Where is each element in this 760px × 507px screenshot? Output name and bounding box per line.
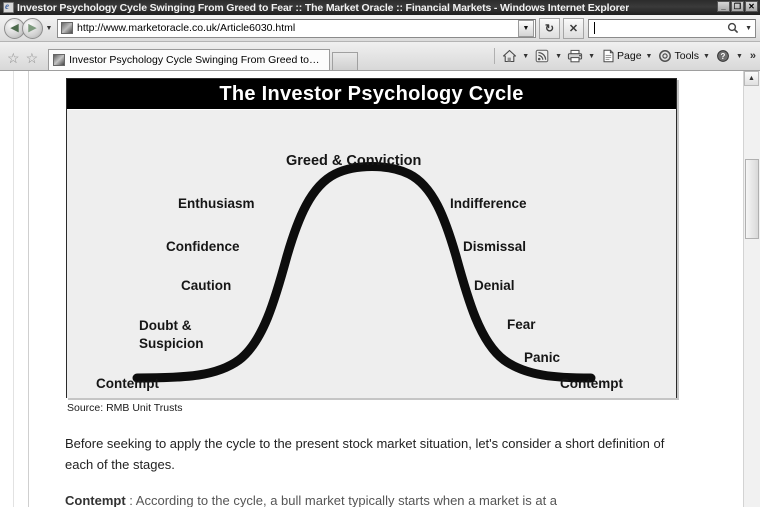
command-bar: ▼ ▼ (488, 45, 756, 70)
restore-button[interactable]: ❐ (731, 1, 744, 12)
tools-label: Tools (674, 50, 699, 62)
chart-label-suspicion: Suspicion (139, 336, 204, 352)
chart-label-panic: Panic (524, 350, 560, 366)
page-label: Page (617, 50, 642, 62)
feeds-caret-icon[interactable]: ▼ (555, 53, 562, 60)
help-question-icon: ? (715, 49, 731, 64)
chart-label-indifference: Indifference (450, 196, 527, 212)
feeds-button[interactable] (534, 49, 551, 64)
home-button[interactable] (501, 49, 518, 64)
history-dropdown-icon[interactable]: ▼ (43, 18, 55, 38)
vertical-scrollbar[interactable]: ▲ (743, 71, 760, 507)
chart-label-enthusiasm: Enthusiasm (178, 196, 255, 212)
chart-label-doubt: Doubt & (139, 318, 191, 334)
page-content: The Investor Psychology Cycle Greed & Co… (0, 71, 760, 507)
home-caret-icon[interactable]: ▼ (522, 53, 529, 60)
address-dropdown-icon[interactable]: ▼ (518, 20, 534, 37)
address-url-text: http://www.marketoracle.co.uk/Article603… (77, 22, 295, 34)
help-button[interactable]: ? (715, 49, 732, 64)
tab-strip: Investor Psychology Cycle Swinging From … (48, 49, 358, 70)
chart-source-caption: Source: RMB Unit Trusts (67, 402, 183, 414)
article-paragraph-1: Before seeking to apply the cycle to the… (65, 433, 665, 475)
command-overflow-icon[interactable]: » (750, 50, 756, 62)
scrollbar-thumb[interactable] (745, 159, 759, 239)
scroll-up-arrow-icon[interactable]: ▲ (744, 71, 759, 86)
tab-favicon-icon (53, 54, 65, 66)
print-button[interactable] (567, 49, 584, 64)
new-tab-button[interactable] (332, 52, 358, 70)
stop-button[interactable]: ✕ (563, 18, 584, 39)
chart-label-confidence: Confidence (166, 239, 240, 255)
investor-psychology-cycle-chart: The Investor Psychology Cycle Greed & Co… (66, 78, 677, 398)
page-favicon-icon (61, 22, 73, 34)
gear-icon (657, 49, 673, 64)
chart-label-greed-conviction: Greed & Conviction (286, 153, 421, 170)
chart-label-contempt-right: Contempt (560, 376, 623, 392)
browser-window: Investor Psychology Cycle Swinging From … (0, 0, 760, 507)
chart-label-fear: Fear (507, 317, 536, 333)
chart-label-denial: Denial (474, 278, 515, 294)
page-document-icon (600, 49, 616, 64)
chart-label-dismissal: Dismissal (463, 239, 526, 255)
article-paragraph-2: Contempt : According to the cycle, a bul… (65, 491, 665, 507)
close-button[interactable]: ✕ (745, 1, 758, 12)
search-box[interactable]: ▼ (588, 19, 756, 38)
tab-bar: ☆ ☆ Investor Psychology Cycle Swinging F… (0, 42, 760, 71)
favorites-center-icon[interactable]: ☆ (7, 51, 20, 65)
search-dropdown-icon[interactable]: ▼ (745, 25, 752, 32)
help-caret-icon[interactable]: ▼ (736, 53, 743, 60)
search-icon[interactable] (726, 22, 739, 35)
ie-logo-icon (3, 2, 14, 13)
navigation-bar: ◀ ▶ ▼ http://www.marketoracle.co.uk/Arti… (0, 15, 760, 42)
tools-menu-button[interactable]: Tools (657, 49, 699, 64)
printer-icon (567, 49, 583, 64)
tab-label: Investor Psychology Cycle Swinging From … (69, 54, 322, 66)
article-term-contempt: Contempt (65, 493, 126, 507)
page-menu-button[interactable]: Page (600, 49, 642, 64)
chart-label-caution: Caution (181, 278, 231, 294)
forward-button[interactable]: ▶ (22, 18, 43, 39)
article-paragraph-2-rest: : According to the cycle, a bull market … (126, 493, 557, 507)
chart-title: The Investor Psychology Cycle (219, 83, 523, 106)
chart-label-contempt-left: Contempt (96, 376, 159, 392)
chart-title-bar: The Investor Psychology Cycle (67, 79, 676, 109)
search-text-caret (594, 22, 595, 34)
svg-text:?: ? (720, 52, 725, 61)
address-bar[interactable]: http://www.marketoracle.co.uk/Article603… (57, 19, 536, 38)
command-separator (494, 48, 495, 64)
chart-plot-area: Greed & Conviction Enthusiasm Confidence… (67, 109, 676, 398)
browser-tab[interactable]: Investor Psychology Cycle Swinging From … (48, 49, 330, 70)
rss-feed-icon (534, 49, 550, 64)
page-caret-icon[interactable]: ▼ (646, 53, 653, 60)
add-to-favorites-icon[interactable]: ☆ (26, 51, 39, 65)
window-controls: _ ❐ ✕ (717, 1, 758, 12)
page-left-gutter (0, 71, 29, 507)
home-icon (501, 49, 517, 64)
title-bar: Investor Psychology Cycle Swinging From … (0, 0, 760, 15)
refresh-button[interactable]: ↻ (539, 18, 560, 39)
window-title: Investor Psychology Cycle Swinging From … (17, 2, 629, 14)
minimize-button[interactable]: _ (717, 1, 730, 12)
print-caret-icon[interactable]: ▼ (588, 53, 595, 60)
tools-caret-icon[interactable]: ▼ (703, 53, 710, 60)
